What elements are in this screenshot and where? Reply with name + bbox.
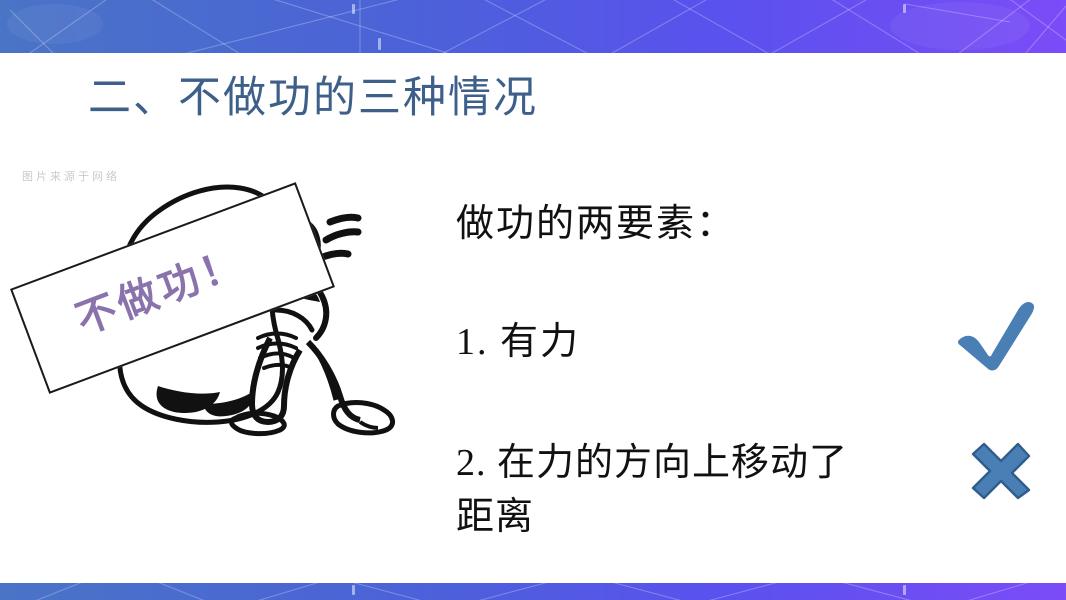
content-item-1: 1. 有力 [456, 310, 580, 365]
content-heading: 做功的两要素： [456, 192, 736, 247]
slide-canvas: 二、不做功的三种情况 [0, 0, 1066, 600]
check-mark-icon [955, 300, 1037, 372]
cross-mark-svg [968, 438, 1034, 500]
content-item-2: 2. 在力的方向上移动了 距离 [456, 437, 848, 545]
top-decorative-bar [0, 0, 1066, 53]
check-mark-svg [955, 300, 1037, 372]
bottom-decorative-bar [0, 583, 1066, 600]
page-title: 二、不做功的三种情况 [88, 74, 538, 123]
top-bar-lines-pattern [0, 0, 1066, 53]
bottom-bar-lines-pattern [0, 583, 1066, 600]
image-watermark: 图片来源于网络 [22, 168, 120, 184]
cross-mark-icon [968, 438, 1034, 500]
